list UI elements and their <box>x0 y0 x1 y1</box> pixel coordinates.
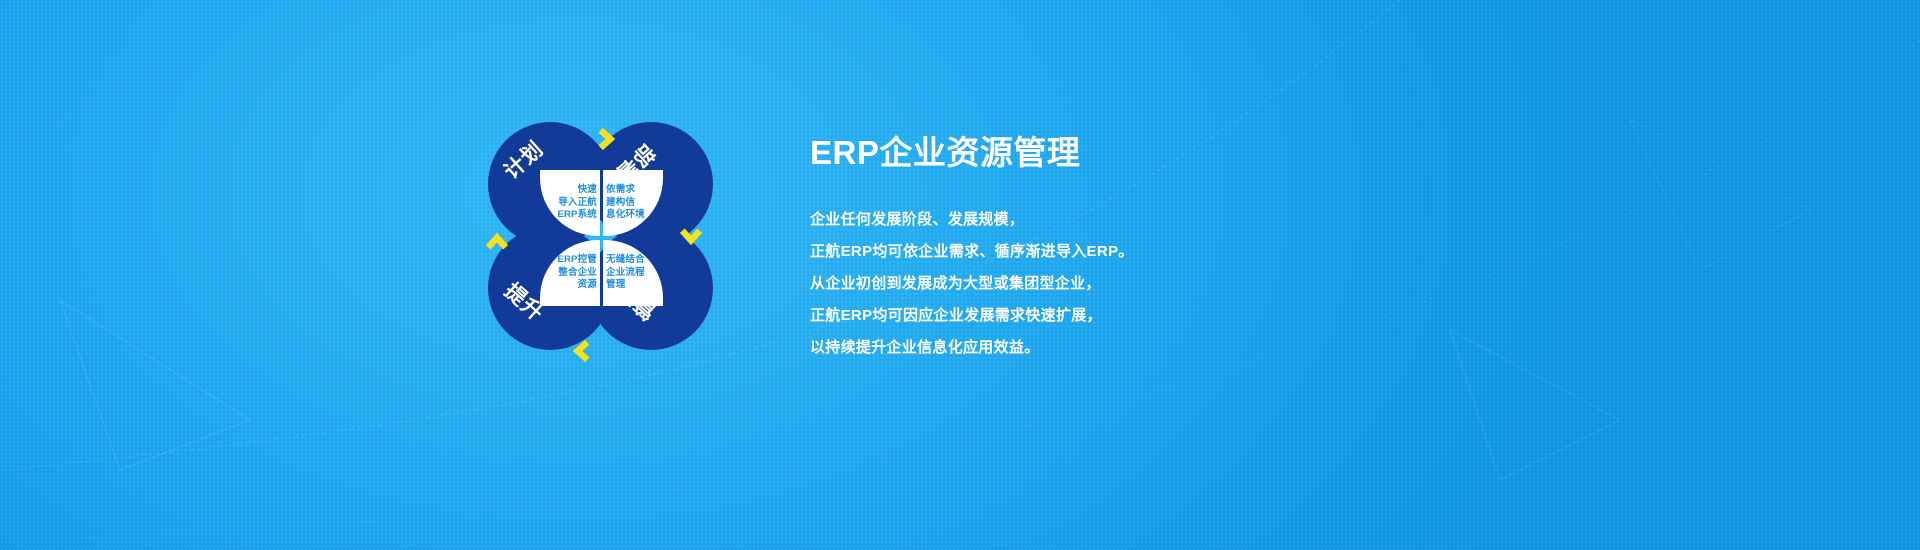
quad-line: 快速 <box>578 184 597 197</box>
quad-line: 依需求 <box>606 184 635 197</box>
quad-line: ERP控管 <box>557 254 597 267</box>
quad-line: 整合企业 <box>558 267 597 280</box>
quad-line: 资源 <box>578 279 597 292</box>
quad-line: 企业流程 <box>606 267 645 280</box>
quad-line: ERP系统 <box>557 209 597 222</box>
description-line: 正航ERP均可依企业需求、循序渐进导入ERP。 <box>810 243 1530 261</box>
erp-banner: 计划 部署 提升 管理 快速 导入正航 ERP系统 依需求 建构信 息化环境 E… <box>0 0 1920 550</box>
description-line: 正航ERP均可因应企业发展需求快速扩展， <box>810 307 1530 325</box>
quad-line: 息化环境 <box>606 209 645 222</box>
page-title: ERP企业资源管理 <box>810 133 1530 173</box>
erp-lifecycle-diagram: 计划 部署 提升 管理 快速 导入正航 ERP系统 依需求 建构信 息化环境 E… <box>488 122 713 350</box>
description-line: 以持续提升企业信息化应用效益。 <box>810 339 1530 357</box>
quad-line: 管理 <box>606 279 625 292</box>
quad-line: 无缝结合 <box>606 254 645 267</box>
quad-line: 建构信 <box>606 197 635 210</box>
description-line: 从企业初创到发展成为大型或集团型企业， <box>810 275 1530 293</box>
chevron-left-icon <box>570 338 596 364</box>
description-paragraphs: 企业任何发展阶段、发展规模， 正航ERP均可依企业需求、循序渐进导入ERP。 从… <box>810 211 1530 357</box>
description-line: 企业任何发展阶段、发展规模， <box>810 211 1530 229</box>
chevron-right-icon <box>592 126 618 152</box>
chevron-down-icon <box>678 222 704 248</box>
quad-line: 导入正航 <box>558 197 597 210</box>
chevron-up-icon <box>484 230 510 256</box>
banner-copy: ERP企业资源管理 企业任何发展阶段、发展规模， 正航ERP均可依企业需求、循序… <box>810 133 1530 371</box>
